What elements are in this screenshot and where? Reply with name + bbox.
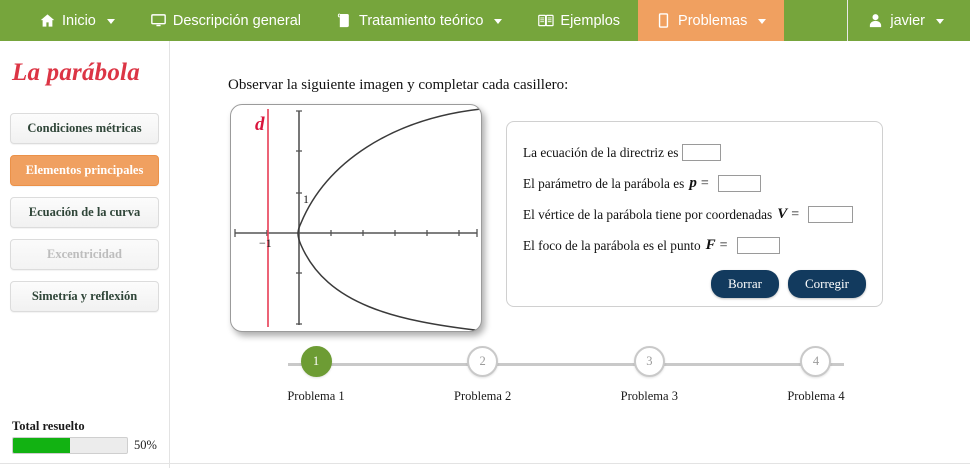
label-vertice: El vértice de la parábola tiene por coor… [523,207,772,223]
step-label-3: Problema 3 [621,389,678,404]
progress-bar-fill [13,438,70,453]
form-row-vertice: El vértice de la parábola tiene por coor… [523,199,882,230]
nav-label-ejemplos: Ejemplos [560,13,620,29]
directrix-label: d [255,114,265,135]
sidebar-item-ecuacion-de-la-curva[interactable]: Ecuación de la curva [10,197,159,228]
symbol-v: V [777,206,787,223]
nav-item-descripcion-general[interactable]: Descripción general [133,0,319,41]
chevron-down-icon [107,19,115,24]
chevron-down-icon [494,19,502,24]
nav-item-problemas[interactable]: Problemas [638,0,784,41]
home-icon [40,13,55,28]
label-parametro: El parámetro de la parábola es [523,176,684,192]
label-directriz: La ecuación de la directriz es [523,145,678,161]
step-circle-1[interactable]: 1 [301,346,332,377]
form-buttons: Borrar Corregir [507,270,866,298]
progress-bar-track [12,437,128,454]
left-sidebar: La parábola Condiciones métricas Element… [0,41,170,468]
instruction-text: Observar la siguiente imagen y completar… [228,77,568,94]
symbol-f: F [706,237,716,254]
stepper-step-1[interactable]: 1 Problema 1 [266,346,366,404]
nav-label-descripcion-general: Descripción general [173,13,301,29]
parabola-graph-card: d 1 −1 [230,104,482,332]
books-icon [538,13,553,28]
sidebar-item-condiciones-metricas[interactable]: Condiciones métricas [10,113,159,144]
nav-label-inicio: Inicio [62,13,96,29]
foco-input[interactable] [737,237,780,254]
stepper-step-4[interactable]: 4 Problema 4 [766,346,866,404]
x-tick-label-minus1: −1 [259,236,272,250]
user-icon [868,13,883,28]
clear-button[interactable]: Borrar [711,270,779,298]
y-tick-label-1: 1 [303,192,309,206]
page-title: La parábola [12,59,169,87]
form-row-parametro: El parámetro de la parábola es p = [523,168,882,199]
vertice-input[interactable] [808,206,853,223]
sidebar-item-simetria-y-reflexion[interactable]: Simetría y reflexión [10,281,159,312]
nav-label-username: javier [890,13,925,29]
tablet-icon [656,13,671,28]
parabola-curve [298,109,481,331]
directriz-input[interactable] [682,144,721,161]
top-navbar: Inicio Descripción general Tratamiento t… [0,0,970,41]
equals-sign-f: = [720,238,728,254]
book-icon [337,13,352,28]
step-label-4: Problema 4 [787,389,844,404]
check-button[interactable]: Corregir [788,270,866,298]
equals-sign-v: = [791,207,799,223]
equals-sign-p: = [701,176,709,192]
answers-form-card: La ecuación de la directriz es El paráme… [506,121,883,307]
monitor-icon [151,13,166,28]
total-progress-block: Total resuelto 50% [12,419,162,454]
nav-item-inicio[interactable]: Inicio [0,0,133,41]
total-progress-row: 50% [12,437,162,454]
step-circle-3[interactable]: 3 [634,346,665,377]
total-progress-label: Total resuelto [12,419,162,434]
page-body: La parábola Condiciones métricas Element… [0,41,970,468]
chevron-down-icon [758,19,766,24]
sidebar-item-elementos-principales[interactable]: Elementos principales [10,155,159,186]
parametro-input[interactable] [718,175,761,192]
form-row-directriz: La ecuación de la directriz es [523,137,882,168]
stepper-items: 1 Problema 1 2 Problema 2 3 Problema 3 4… [266,346,866,404]
label-foco: El foco de la parábola es el punto [523,238,701,254]
nav-item-tratamiento-teorico[interactable]: Tratamiento teórico [319,0,520,41]
step-label-2: Problema 2 [454,389,511,404]
sidebar-item-excentricidad: Excentricidad [10,239,159,270]
stepper-step-3[interactable]: 3 Problema 3 [599,346,699,404]
nav-label-problemas: Problemas [678,13,747,29]
parabola-graph-svg: d 1 −1 [231,105,481,331]
main-content: Observar la siguiente imagen y completar… [170,41,970,468]
navbar-spacer [784,0,847,41]
sidebar-menu: Condiciones métricas Elementos principal… [0,113,169,312]
nav-label-tratamiento-teorico: Tratamiento teórico [359,13,483,29]
nav-item-user-menu[interactable]: javier [847,0,970,41]
chevron-down-icon [936,19,944,24]
step-label-1: Problema 1 [287,389,344,404]
symbol-p: p [689,175,697,192]
nav-item-ejemplos[interactable]: Ejemplos [520,0,638,41]
footer-divider [0,463,970,464]
problem-stepper: 1 Problema 1 2 Problema 2 3 Problema 3 4… [266,346,866,406]
form-row-foco: El foco de la parábola es el punto F = [523,230,882,261]
stepper-step-2[interactable]: 2 Problema 2 [433,346,533,404]
step-circle-4[interactable]: 4 [800,346,831,377]
step-circle-2[interactable]: 2 [467,346,498,377]
progress-percent-text: 50% [134,438,157,453]
